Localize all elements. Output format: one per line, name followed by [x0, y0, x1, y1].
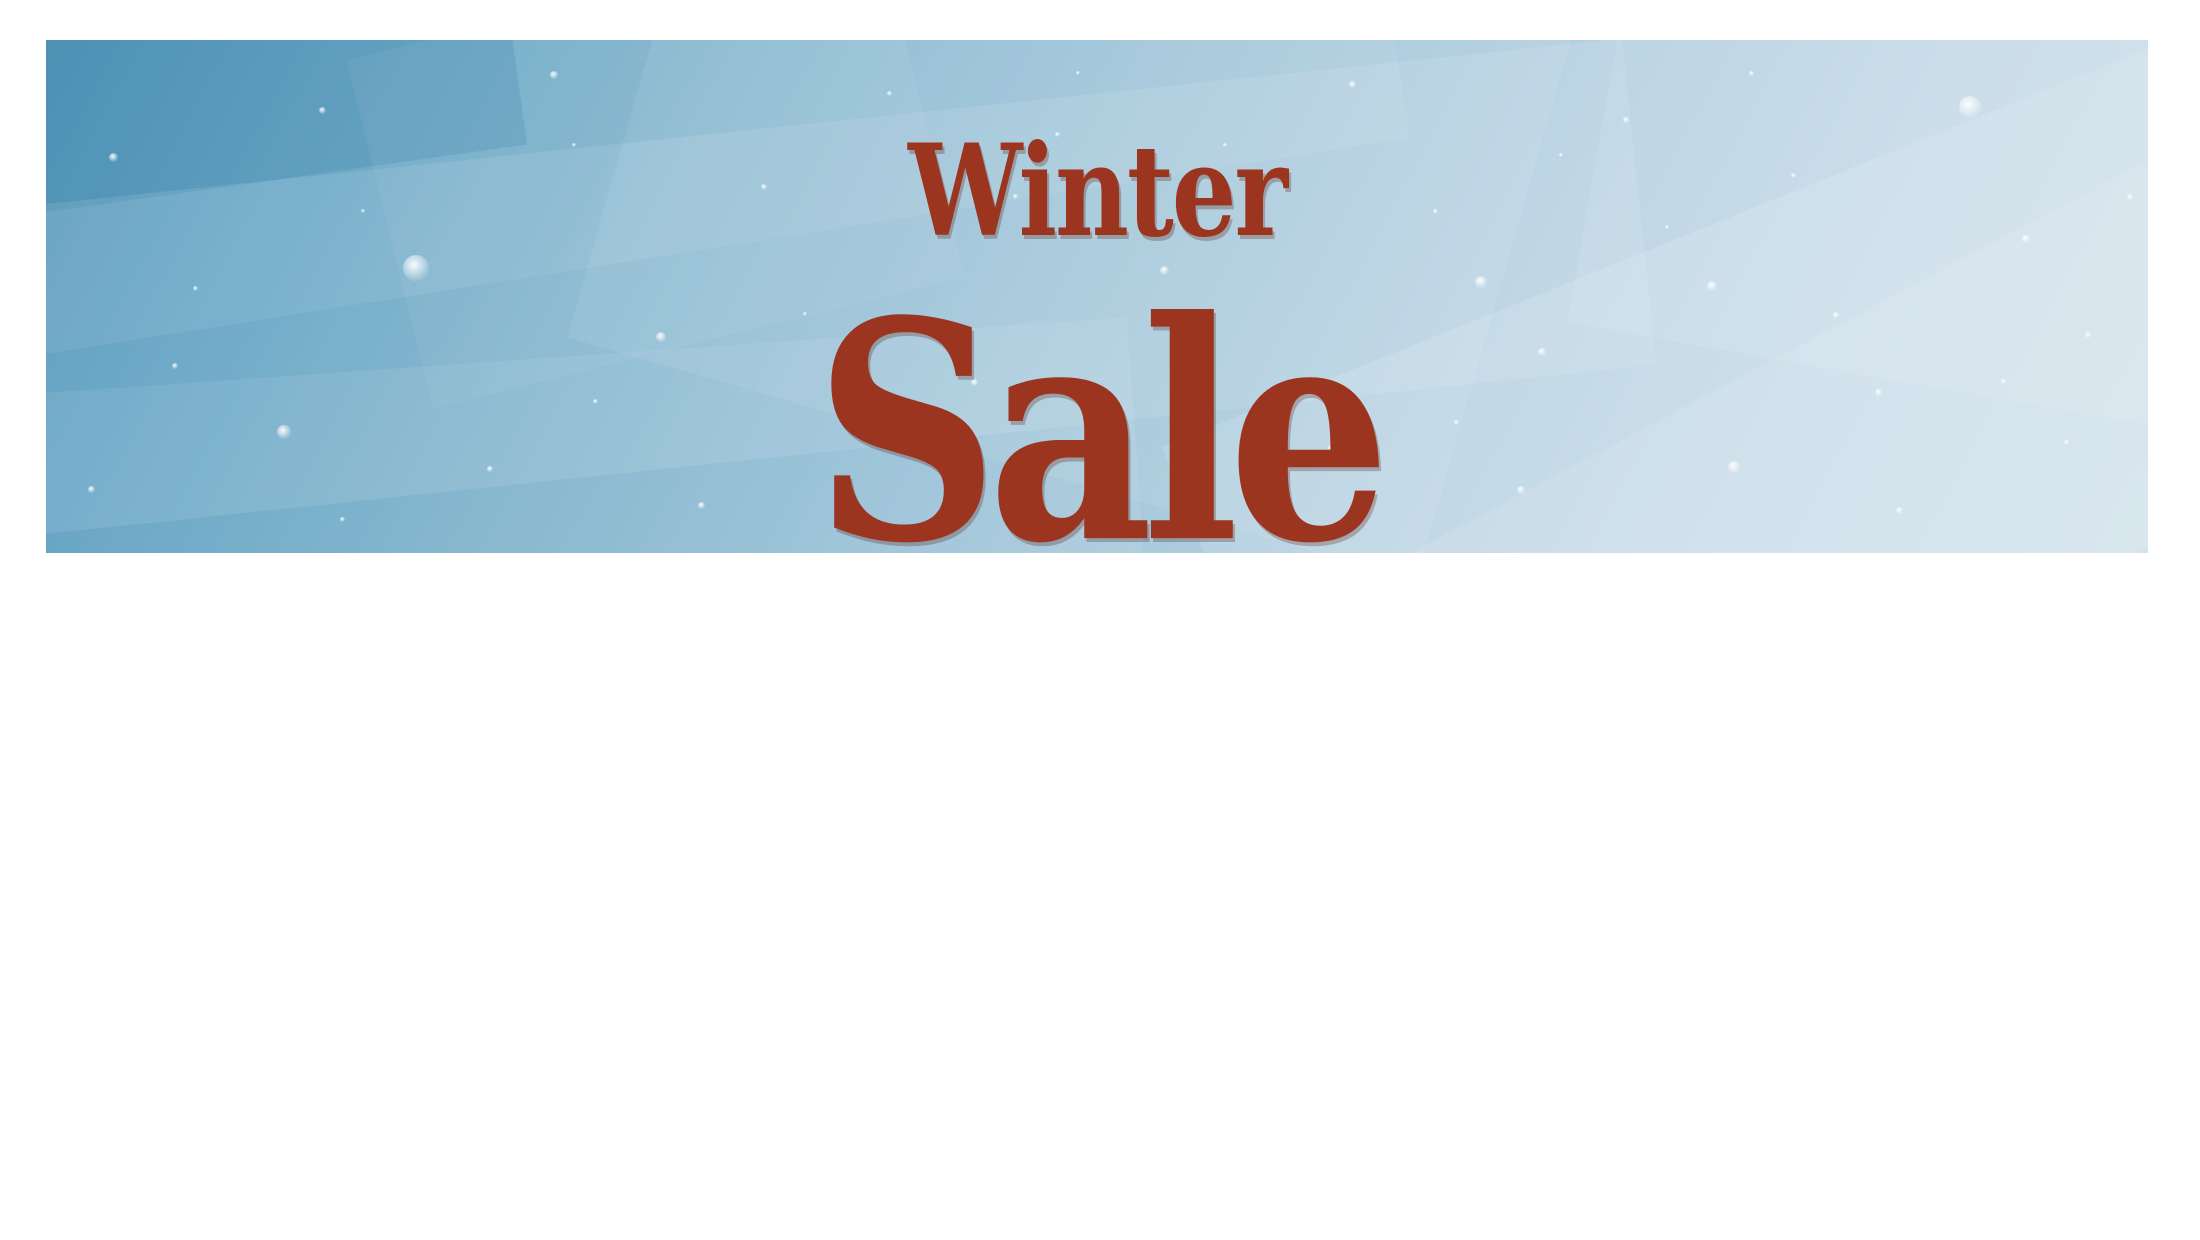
snow-dot: [319, 107, 326, 114]
headline-sale: Sale: [46, 282, 2148, 553]
winter-sale-slide: Winter Sale FRI through MONDAY Feb 13-16…: [0, 0, 2200, 1240]
headline-winter: Winter: [46, 128, 2148, 255]
sale-wordmark: Winter Sale: [46, 128, 2148, 514]
product-image-strip: Franklin JOOLA CRBN SELKIRK SPORT GEARBO…: [0, 855, 2200, 1240]
promo-block: FRI through MONDAY Feb 13-16 Four Days O…: [0, 620, 2200, 850]
snow-dot: [1623, 117, 1629, 123]
hero-banner: Winter Sale: [46, 40, 2148, 553]
snow-dot: [1076, 71, 1080, 75]
snow-dot: [1749, 71, 1754, 76]
